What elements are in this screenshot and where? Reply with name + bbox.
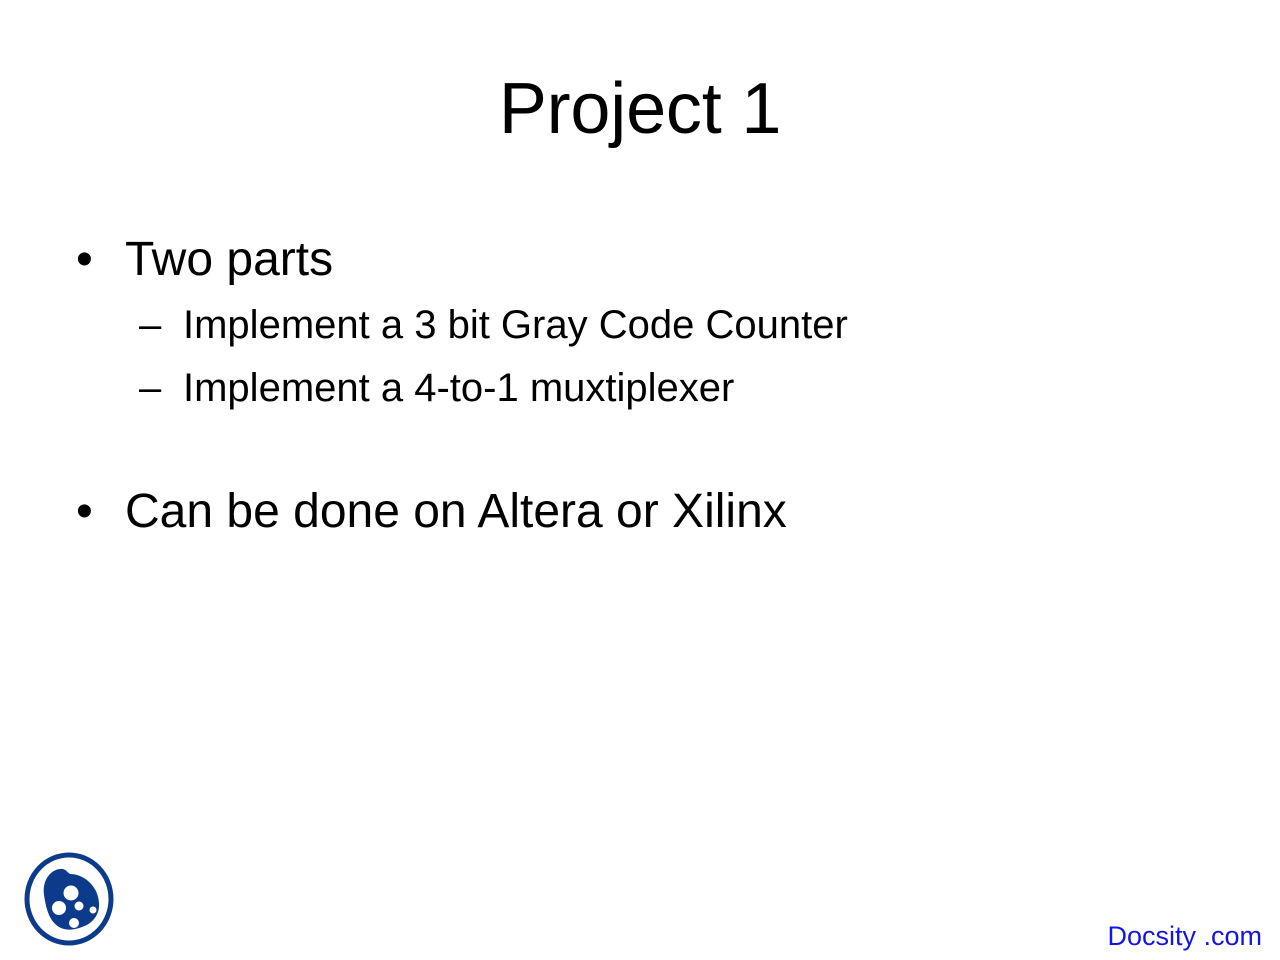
spacer xyxy=(0,288,1280,302)
bullet-item-altera-xilinx: • Can be done on Altera or Xilinx xyxy=(0,484,1280,540)
bullet-text: Implement a 3 bit Gray Code Counter xyxy=(183,302,848,349)
slide-canvas: Project 1 • Two parts – Implement a 3 bi… xyxy=(0,0,1280,960)
bullet-item-gray-code-counter: – Implement a 3 bit Gray Code Counter xyxy=(0,302,1280,349)
bullet-marker-dot: • xyxy=(76,232,125,288)
spacer-blank-line xyxy=(0,412,1280,484)
bullet-marker-dash: – xyxy=(139,365,183,412)
docsity-watermark: Docsity .com xyxy=(1107,923,1262,950)
slide-body-list: • Two parts – Implement a 3 bit Gray Cod… xyxy=(0,232,1280,540)
bullet-text: Implement a 4-to-1 muxtiplexer xyxy=(183,365,734,412)
bullet-text: Can be done on Altera or Xilinx xyxy=(125,484,787,540)
bullet-item-multiplexer: – Implement a 4-to-1 muxtiplexer xyxy=(0,365,1280,412)
slide-title: Project 1 xyxy=(0,72,1280,148)
bullet-text: Two parts xyxy=(125,232,333,288)
bullet-marker-dash: – xyxy=(139,302,183,349)
bullet-marker-dot: • xyxy=(76,484,125,540)
bullet-item-two-parts: • Two parts xyxy=(0,232,1280,288)
docsity-logo-icon xyxy=(22,851,116,947)
spacer xyxy=(0,349,1280,365)
